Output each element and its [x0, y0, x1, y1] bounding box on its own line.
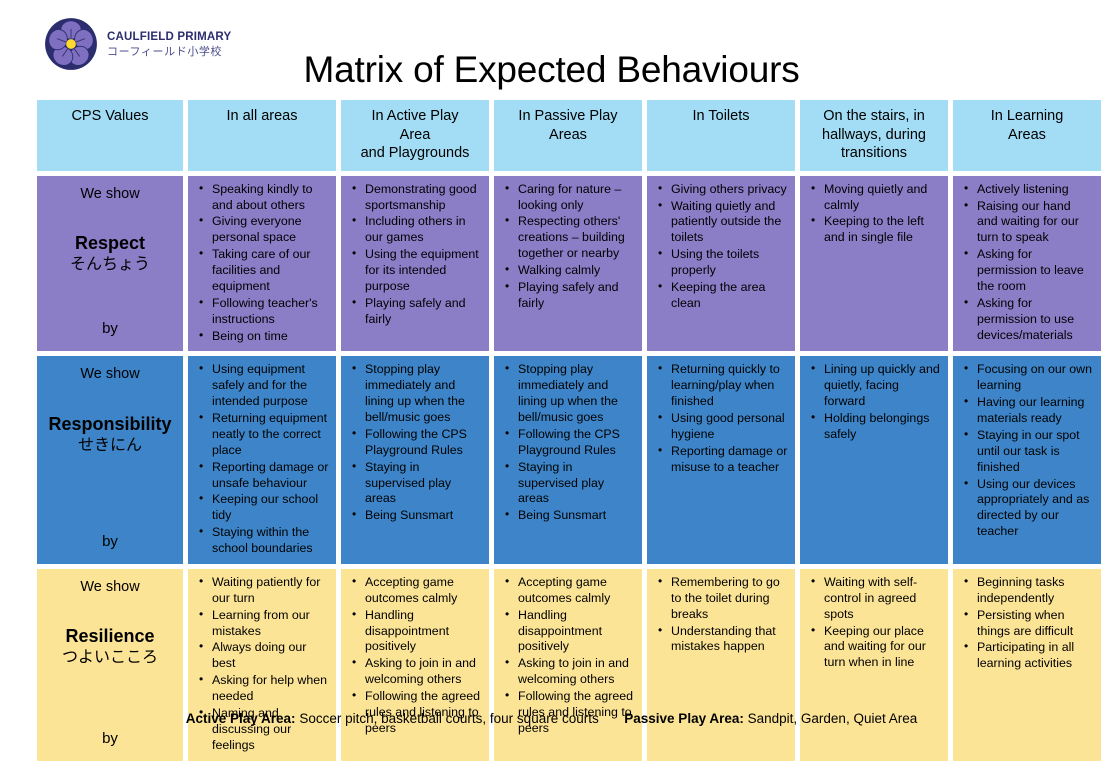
list-item: Participating in all learning activities: [977, 640, 1094, 672]
table-row-responsibility: We show Responsibility せきにん by Using equ…: [36, 355, 1102, 565]
list-item: Giving others privacy: [671, 182, 788, 198]
list-item: Including others in our games: [365, 214, 482, 246]
list-item: Following the CPS Playground Rules: [365, 427, 482, 459]
value-name: Resilience: [41, 626, 179, 647]
list-item: Returning quickly to learning/play when …: [671, 362, 788, 410]
cell-resilience-toilets: Remembering to go to the toilet during b…: [646, 568, 796, 762]
list-item: Stopping play immediately and lining up …: [365, 362, 482, 426]
list-item: Always doing our best: [212, 640, 329, 672]
column-header-active-play: In Active Play Area and Playgrounds: [340, 99, 490, 172]
list-item: Taking care of our facilities and equipm…: [212, 247, 329, 295]
list-item: Using equipment safely and for the inten…: [212, 362, 329, 410]
column-header-stairs-hallways: On the stairs, in hallways, during trans…: [799, 99, 949, 172]
behaviour-list: Beginning tasks independently Persisting…: [955, 575, 1096, 672]
list-item: Using the equipment for its intended pur…: [365, 247, 482, 295]
page-header: CAULFIELD PRIMARY コーフィールド小学校 Matrix of E…: [0, 0, 1103, 92]
value-name-japanese: そんちょう: [41, 255, 179, 275]
list-item: Demonstrating good sportsmanship: [365, 182, 482, 214]
list-item: Beginning tasks independently: [977, 575, 1094, 607]
value-by-word: by: [37, 320, 183, 337]
cell-respect-passive-play: Caring for nature – looking only Respect…: [493, 175, 643, 353]
table-header-row: CPS Values In all areas In Active Play A…: [36, 99, 1102, 172]
list-item: Staying in our spot until our task is fi…: [977, 428, 1094, 476]
list-item: Stopping play immediately and lining up …: [518, 362, 635, 426]
behaviour-list: Lining up quickly and quietly, facing fo…: [802, 362, 943, 442]
value-cell-resilience: We show Resilience つよいこころ by: [36, 568, 184, 762]
value-cell-responsibility: We show Responsibility せきにん by: [36, 355, 184, 565]
school-name: CAULFIELD PRIMARY: [107, 31, 231, 44]
cell-responsibility-active-play: Stopping play immediately and lining up …: [340, 355, 490, 565]
behaviour-list: Giving others privacy Waiting quietly an…: [649, 182, 790, 312]
column-header-cps-values: CPS Values: [36, 99, 184, 172]
cell-resilience-stairs: Waiting with self-control in agreed spot…: [799, 568, 949, 762]
list-item: Using our devices appropriately and as d…: [977, 477, 1094, 541]
cell-responsibility-passive-play: Stopping play immediately and lining up …: [493, 355, 643, 565]
list-item: Waiting quietly and patiently outside th…: [671, 199, 788, 247]
page-title: Matrix of Expected Behaviours: [0, 49, 1103, 91]
list-item: Using good personal hygiene: [671, 411, 788, 443]
list-item: Giving everyone personal space: [212, 214, 329, 246]
behaviour-list: Returning quickly to learning/play when …: [649, 362, 790, 475]
list-item: Keeping our school tidy: [212, 492, 329, 524]
active-play-area-label: Active Play Area:: [186, 711, 296, 726]
behaviour-list: Actively listening Raising our hand and …: [955, 182, 1096, 344]
list-item: Playing safely and fairly: [365, 296, 482, 328]
behaviour-list: Speaking kindly to and about others Givi…: [190, 182, 331, 345]
value-by-word: by: [37, 730, 183, 747]
list-item: Learning from our mistakes: [212, 608, 329, 640]
value-name-japanese: つよいこころ: [41, 648, 179, 668]
list-item: Actively listening: [977, 182, 1094, 198]
value-cell-respect: We show Respect そんちょう by: [36, 175, 184, 353]
cell-resilience-passive-play: Accepting game outcomes calmly Handling …: [493, 568, 643, 762]
passive-play-area-text: Sandpit, Garden, Quiet Area: [748, 711, 918, 726]
list-item: Staying in supervised play areas: [365, 460, 482, 508]
list-item: Accepting game outcomes calmly: [518, 575, 635, 607]
cell-responsibility-toilets: Returning quickly to learning/play when …: [646, 355, 796, 565]
cell-responsibility-learning: Focusing on our own learning Having our …: [952, 355, 1102, 565]
table-row-resilience: We show Resilience つよいこころ by Waiting pat…: [36, 568, 1102, 762]
list-item: Raising our hand and waiting for our tur…: [977, 199, 1094, 247]
list-item: Persisting when things are difficult: [977, 608, 1094, 640]
behaviour-matrix-table: CPS Values In all areas In Active Play A…: [33, 96, 1103, 765]
value-name: Responsibility: [41, 414, 179, 435]
list-item: Having our learning materials ready: [977, 395, 1094, 427]
footer-legend: Active Play Area: Soccer pitch, basketba…: [0, 711, 1103, 726]
list-item: Being Sunsmart: [518, 508, 635, 524]
list-item: Waiting patiently for our turn: [212, 575, 329, 607]
cell-responsibility-stairs: Lining up quickly and quietly, facing fo…: [799, 355, 949, 565]
cell-resilience-learning: Beginning tasks independently Persisting…: [952, 568, 1102, 762]
behaviour-list: Remembering to go to the toilet during b…: [649, 575, 790, 655]
list-item: Keeping to the left and in single file: [824, 214, 941, 246]
list-item: Staying in supervised play areas: [518, 460, 635, 508]
cell-respect-toilets: Giving others privacy Waiting quietly an…: [646, 175, 796, 353]
list-item: Using the toilets properly: [671, 247, 788, 279]
cell-respect-learning: Actively listening Raising our hand and …: [952, 175, 1102, 353]
list-item: Keeping the area clean: [671, 280, 788, 312]
cell-resilience-active-play: Accepting game outcomes calmly Handling …: [340, 568, 490, 762]
cell-respect-active-play: Demonstrating good sportsmanship Includi…: [340, 175, 490, 353]
value-name: Respect: [41, 233, 179, 254]
list-item: Asking for permission to use devices/mat…: [977, 296, 1094, 344]
list-item: Asking to join in and welcoming others: [518, 656, 635, 688]
behaviour-list: Moving quietly and calmly Keeping to the…: [802, 182, 943, 247]
cell-resilience-all-areas: Waiting patiently for our turn Learning …: [187, 568, 337, 762]
list-item: Asking for permission to leave the room: [977, 247, 1094, 295]
list-item: Focusing on our own learning: [977, 362, 1094, 394]
list-item: Handling disappointment positively: [518, 608, 635, 656]
behaviour-list: Waiting with self-control in agreed spot…: [802, 575, 943, 671]
list-item: Returning equipment neatly to the correc…: [212, 411, 329, 459]
list-item: Reporting damage or unsafe behaviour: [212, 460, 329, 492]
list-item: Understanding that mistakes happen: [671, 624, 788, 656]
active-play-area-text: Soccer pitch, basketball courts, four sq…: [299, 711, 598, 726]
value-by-word: by: [37, 533, 183, 550]
column-header-in-all-areas: In all areas: [187, 99, 337, 172]
column-header-passive-play: In Passive Play Areas: [493, 99, 643, 172]
list-item: Asking to join in and welcoming others: [365, 656, 482, 688]
list-item: Lining up quickly and quietly, facing fo…: [824, 362, 941, 410]
list-item: Playing safely and fairly: [518, 280, 635, 312]
list-item: Accepting game outcomes calmly: [365, 575, 482, 607]
value-name-japanese: せきにん: [41, 436, 179, 456]
list-item: Following the CPS Playground Rules: [518, 427, 635, 459]
list-item: Remembering to go to the toilet during b…: [671, 575, 788, 623]
value-intro: We show: [41, 579, 179, 596]
column-header-toilets: In Toilets: [646, 99, 796, 172]
list-item: Being on time: [212, 329, 329, 345]
cell-respect-all-areas: Speaking kindly to and about others Givi…: [187, 175, 337, 353]
list-item: Caring for nature – looking only: [518, 182, 635, 214]
cell-responsibility-all-areas: Using equipment safely and for the inten…: [187, 355, 337, 565]
behaviour-list: Stopping play immediately and lining up …: [343, 362, 484, 524]
list-item: Being Sunsmart: [365, 508, 482, 524]
column-header-learning-areas: In Learning Areas: [952, 99, 1102, 172]
list-item: Moving quietly and calmly: [824, 182, 941, 214]
list-item: Holding belongings safely: [824, 411, 941, 443]
behaviour-list: Caring for nature – looking only Respect…: [496, 182, 637, 312]
value-intro: We show: [41, 366, 179, 383]
table-row-respect: We show Respect そんちょう by Speaking kindly…: [36, 175, 1102, 353]
list-item: Staying within the school boundaries: [212, 525, 329, 557]
list-item: Asking for help when needed: [212, 673, 329, 705]
behaviour-list: Focusing on our own learning Having our …: [955, 362, 1096, 540]
passive-play-area-label: Passive Play Area:: [624, 711, 744, 726]
list-item: Speaking kindly to and about others: [212, 182, 329, 214]
behaviour-list: Stopping play immediately and lining up …: [496, 362, 637, 524]
list-item: Waiting with self-control in agreed spot…: [824, 575, 941, 623]
list-item: Walking calmly: [518, 263, 635, 279]
list-item: Respecting others' creations – building …: [518, 214, 635, 262]
list-item: Handling disappointment positively: [365, 608, 482, 656]
behaviour-list: Demonstrating good sportsmanship Includi…: [343, 182, 484, 328]
cell-respect-stairs: Moving quietly and calmly Keeping to the…: [799, 175, 949, 353]
value-intro: We show: [41, 186, 179, 203]
behaviour-list: Waiting patiently for our turn Learning …: [190, 575, 331, 754]
list-item: Reporting damage or misuse to a teacher: [671, 444, 788, 476]
list-item: Keeping our place and waiting for our tu…: [824, 624, 941, 672]
behaviour-list: Using equipment safely and for the inten…: [190, 362, 331, 557]
list-item: Following teacher's instructions: [212, 296, 329, 328]
